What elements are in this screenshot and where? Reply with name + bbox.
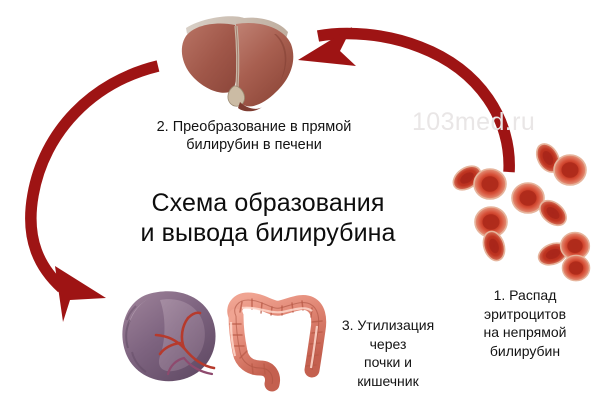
label-rbc-breakdown: 1. Распад эритроцитов на непрямой билиру… xyxy=(452,286,598,360)
liver-illustration xyxy=(176,12,298,114)
page-title-line-2: и вывода билирубина xyxy=(118,218,418,248)
diagram-canvas: 103med.ru Схема образования и вывода бил… xyxy=(0,0,600,413)
label-rbc-line-1: 1. Распад xyxy=(452,286,598,305)
page-title: Схема образования и вывода билирубина xyxy=(118,188,418,248)
red-blood-cells-illustration xyxy=(436,140,596,290)
label-excretion-line-4: кишечник xyxy=(318,372,458,391)
label-rbc-line-4: билирубин xyxy=(452,342,598,361)
page-title-line-1: Схема образования xyxy=(118,188,418,218)
label-liver-line-1: 2. Преобразование в прямой xyxy=(108,118,400,136)
label-excretion-line-1: 3. Утилизация xyxy=(318,316,458,335)
label-excretion: 3. Утилизация через почки и кишечник xyxy=(318,316,458,390)
watermark: 103med.ru xyxy=(412,108,535,137)
large-intestine-illustration xyxy=(222,286,332,391)
label-excretion-line-3: почки и xyxy=(318,353,458,372)
label-excretion-line-2: через xyxy=(318,335,458,354)
label-rbc-line-3: на непрямой xyxy=(452,323,598,342)
kidney-illustration xyxy=(116,286,224,386)
label-rbc-line-2: эритроцитов xyxy=(452,305,598,324)
label-liver-line-2: билирубин в печени xyxy=(108,136,400,154)
label-liver-conversion: 2. Преобразование в прямой билирубин в п… xyxy=(108,118,400,154)
